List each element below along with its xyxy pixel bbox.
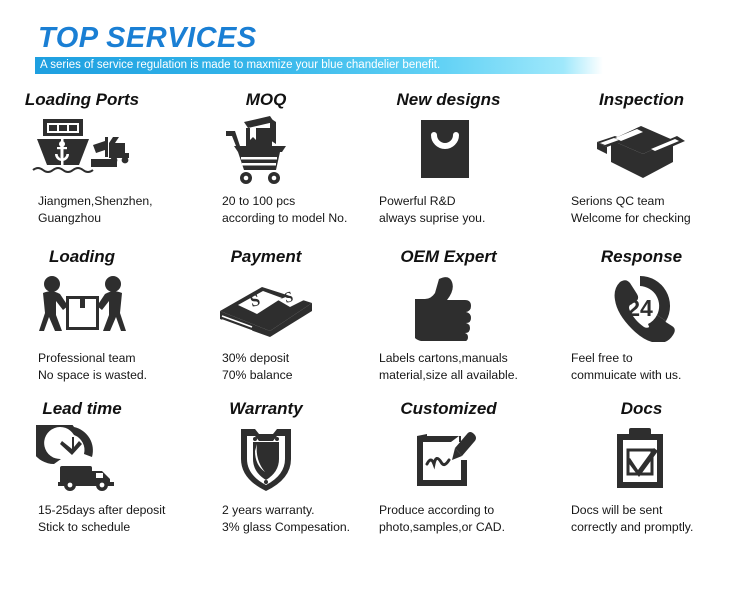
service-card-docs: Docs Docs will be sent correctly and pro… bbox=[549, 395, 750, 560]
phone-24h-icon: 24 bbox=[549, 269, 750, 345]
service-heading: MOQ bbox=[188, 86, 366, 110]
service-heading: Response bbox=[549, 243, 750, 267]
ship-forklift-icon bbox=[0, 112, 188, 188]
service-body: 30% deposit 70% balance bbox=[188, 350, 366, 385]
shopping-bag-icon bbox=[366, 112, 549, 188]
service-body: Feel free to commuicate with us. bbox=[549, 350, 750, 385]
service-card-response: Response 24 Feel free to commuicate with… bbox=[549, 243, 750, 395]
workers-carrying-box-icon bbox=[0, 269, 188, 345]
service-heading: OEM Expert bbox=[366, 243, 549, 267]
service-card-new-designs: New designs Powerful R&D always suprise … bbox=[366, 86, 549, 243]
subtitle-bar: A series of service regulation is made t… bbox=[35, 57, 603, 74]
svg-text:24: 24 bbox=[627, 295, 653, 321]
top-services-banner: TOP SERVICES A series of service regulat… bbox=[0, 0, 750, 589]
service-card-warranty: Warranty 2 years warranty. 3% glass Comp… bbox=[188, 395, 366, 560]
service-body: Produce according to photo,samples,or CA… bbox=[366, 502, 549, 537]
service-heading: Warranty bbox=[188, 395, 366, 419]
service-heading: Loading bbox=[0, 243, 188, 267]
service-card-customized: Customized Produce according to photo,sa… bbox=[366, 395, 549, 560]
shopping-cart-icon bbox=[188, 112, 366, 188]
thumbs-up-icon bbox=[366, 269, 549, 345]
open-box-icon bbox=[549, 112, 750, 188]
service-card-moq: MOQ bbox=[188, 86, 366, 243]
service-heading: Lead time bbox=[0, 395, 188, 419]
service-body: 2 years warranty. 3% glass Compesation. bbox=[188, 502, 366, 537]
service-card-loading-ports: Loading Ports bbox=[0, 86, 188, 243]
service-card-payment: Payment S S bbox=[188, 243, 366, 395]
service-heading: Customized bbox=[366, 395, 549, 419]
service-heading: Docs bbox=[549, 395, 750, 419]
service-body: 15-25days after deposit Stick to schedul… bbox=[0, 502, 188, 537]
pen-document-icon bbox=[366, 421, 549, 497]
service-card-loading: Loading Professional team No space is wa… bbox=[0, 243, 188, 395]
service-heading: Loading Ports bbox=[0, 86, 188, 110]
service-body: Powerful R&D always suprise you. bbox=[366, 193, 549, 228]
clock-truck-icon bbox=[0, 421, 188, 497]
service-heading: Inspection bbox=[549, 86, 750, 110]
service-card-lead-time: Lead time bbox=[0, 395, 188, 560]
service-heading: New designs bbox=[366, 86, 549, 110]
service-card-oem-expert: OEM Expert Labels cartons,manuals materi… bbox=[366, 243, 549, 395]
service-body: Labels cartons,manuals material,size all… bbox=[366, 350, 549, 385]
services-grid: Loading Ports bbox=[0, 86, 750, 560]
service-card-inspection: Inspection Serions QC t bbox=[549, 86, 750, 243]
service-body: Professional team No space is wasted. bbox=[0, 350, 188, 385]
service-body: Jiangmen,Shenzhen, Guangzhou bbox=[0, 193, 188, 228]
subtitle-text: A series of service regulation is made t… bbox=[35, 60, 440, 72]
clipboard-check-icon bbox=[549, 421, 750, 497]
service-body: Serions QC team Welcome for checking bbox=[549, 193, 750, 228]
service-body: 20 to 100 pcs according to model No. bbox=[188, 193, 366, 228]
service-heading: Payment bbox=[188, 243, 366, 267]
shield-icon bbox=[188, 421, 366, 497]
page-title: TOP SERVICES bbox=[38, 22, 257, 55]
service-body: Docs will be sent correctly and promptly… bbox=[549, 502, 750, 537]
money-stack-icon: S S bbox=[188, 269, 366, 345]
